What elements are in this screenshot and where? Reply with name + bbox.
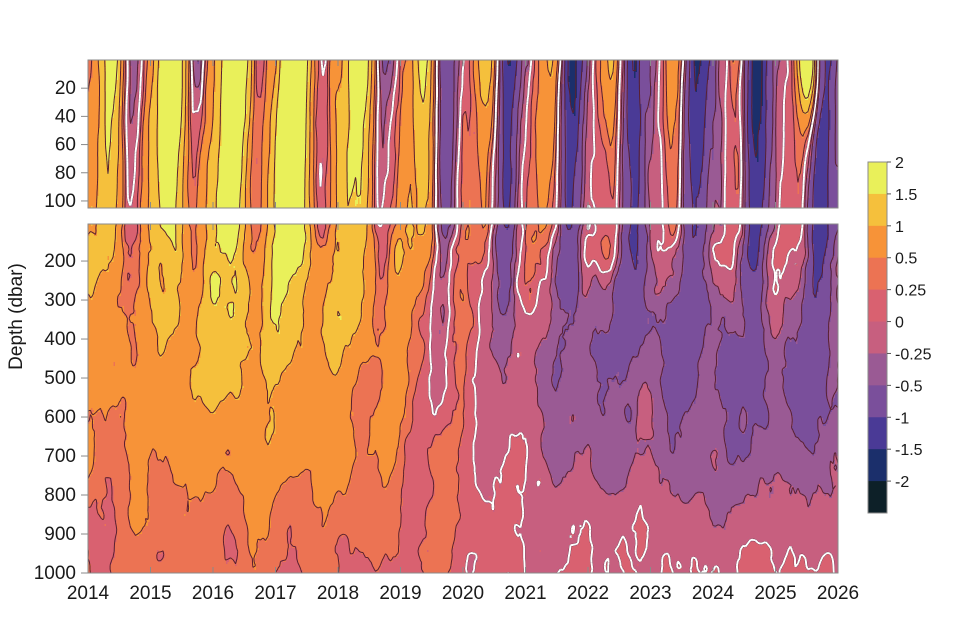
colorbar-tick-label: -0.5 — [895, 378, 923, 395]
y-tick-label: 800 — [44, 485, 76, 506]
colorbar-band — [868, 258, 887, 290]
colorbar-tick-label: -1.5 — [895, 442, 923, 459]
x-tick-label: 2017 — [254, 583, 296, 604]
y-tick-label: 400 — [44, 329, 76, 350]
colorbar-band — [868, 417, 887, 449]
x-tick-label: 2020 — [442, 583, 484, 604]
y-axis-title: Depth (dbar) — [6, 263, 27, 370]
colorbar-band — [868, 481, 887, 513]
colorbar-band — [868, 449, 887, 481]
x-tick-label: 2026 — [817, 583, 859, 604]
y-tick-label: 300 — [44, 290, 76, 311]
colorbar-tick-label: -2 — [895, 474, 909, 491]
x-tick-label: 2018 — [317, 583, 359, 604]
colorbar-tick-label: -0.25 — [895, 346, 932, 363]
colorbar-tick-label: 1.5 — [895, 187, 917, 204]
colorbar-band — [868, 162, 887, 194]
x-tick-label: 2019 — [379, 583, 421, 604]
colorbar-band — [868, 290, 887, 322]
y-tick-label: 80 — [55, 163, 76, 184]
colorbar-tick-label: -1 — [895, 410, 909, 427]
colorbar-tick-label: 2 — [895, 155, 904, 172]
y-axis: 204060801002003004005006007008009001000 — [34, 78, 88, 584]
y-tick-label: 100 — [44, 191, 76, 212]
x-tick-label: 2016 — [192, 583, 234, 604]
y-tick-label: 900 — [44, 524, 76, 545]
colorbar-band — [868, 353, 887, 385]
colorbar-tick-label: 0.25 — [895, 283, 926, 300]
y-tick-label: 1000 — [34, 563, 76, 584]
x-tick-label: 2023 — [629, 583, 671, 604]
colorbar-band — [868, 226, 887, 258]
x-tick-label: 2014 — [67, 583, 110, 604]
y-tick-label: 500 — [44, 368, 76, 389]
colorbar-tick-label: 0.5 — [895, 251, 917, 268]
y-tick-label: 200 — [44, 251, 76, 272]
contour-figure: 2014201520162017201820192020202120222023… — [0, 0, 966, 620]
y-tick-label: 60 — [55, 135, 76, 156]
colorbar-band — [868, 322, 887, 354]
x-tick-label: 2025 — [754, 583, 796, 604]
y-tick-label: 600 — [44, 407, 76, 428]
colorbar-tick-label: 0 — [895, 315, 904, 332]
x-tick-label: 2015 — [129, 583, 171, 604]
x-tick-label: 2024 — [692, 583, 735, 604]
colorbar: 21.510.50.250-0.25-0.5-1-1.5-2 — [868, 155, 932, 513]
colorbar-tick-label: 1 — [895, 219, 904, 236]
x-tick-label: 2021 — [504, 583, 546, 604]
figure-root: 2014201520162017201820192020202120222023… — [0, 0, 966, 620]
y-tick-label: 40 — [55, 106, 76, 127]
y-tick-label: 20 — [55, 78, 76, 99]
colorbar-band — [868, 385, 887, 417]
x-tick-label: 2022 — [567, 583, 609, 604]
y-tick-label: 700 — [44, 446, 76, 467]
colorbar-band — [868, 194, 887, 226]
